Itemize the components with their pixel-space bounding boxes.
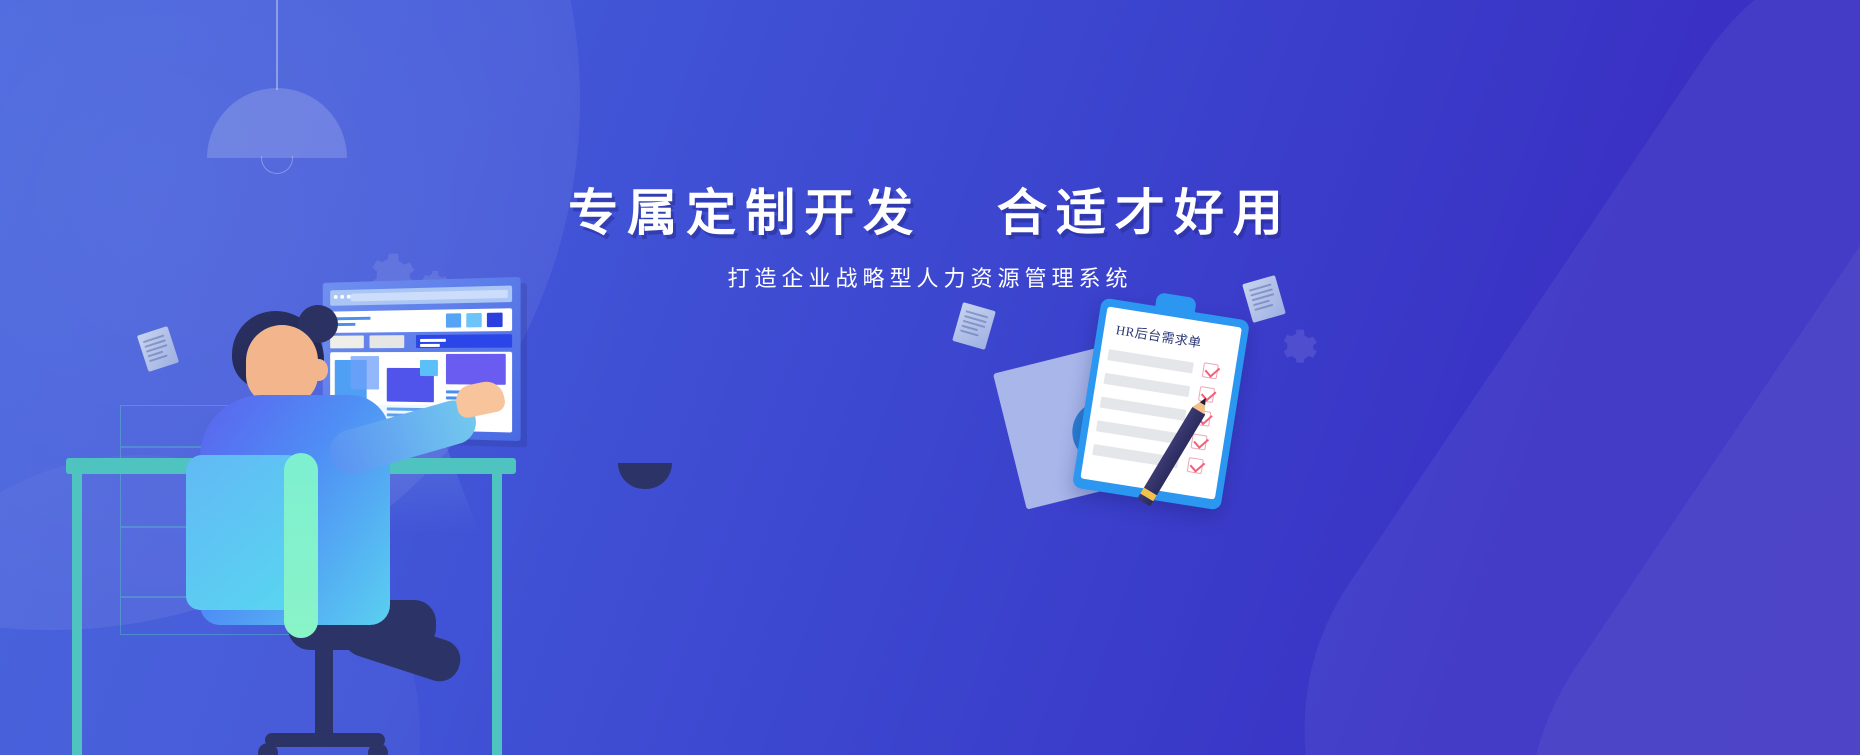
window-dots-icon [334, 295, 351, 299]
chair-backrest-edge [284, 453, 318, 638]
clipboard-title: HR后台需求单 [1115, 319, 1233, 356]
illustration-man-at-desk [60, 255, 600, 755]
desk-leg [492, 472, 502, 755]
screen-header-row [330, 308, 512, 333]
clipboard: HR后台需求单 [1072, 297, 1250, 510]
chair-wheel [368, 743, 388, 755]
person-head [246, 325, 318, 405]
headline-part-1: 专属定制开发 [568, 184, 922, 242]
monitor-stand [618, 463, 672, 489]
chair-post [315, 645, 333, 740]
pendant-lamp-icon [207, 0, 347, 168]
checkbox-checked-icon [1190, 433, 1207, 450]
hero-banner: HR后台需求单 专属定制开发 合适才好用 打造 [0, 0, 1860, 755]
banner-copy: 专属定制开发 合适才好用 打造企业战略型人力资源管理系统 [0, 185, 1860, 293]
chair-base [265, 733, 385, 747]
headline-part-2: 合适才好用 [997, 184, 1292, 242]
illustration-hr-clipboard: HR后台需求单 [1000, 280, 1320, 580]
page-subtitle: 打造企业战略型人力资源管理系统 [0, 261, 1860, 293]
person-ear [310, 359, 328, 381]
lamp-cord [276, 0, 278, 90]
desk-leg [72, 472, 82, 755]
paper-note-icon [952, 302, 996, 350]
checkbox-checked-icon [1187, 457, 1204, 474]
lamp-shade [207, 88, 347, 158]
page-title: 专属定制开发 合适才好用 [0, 185, 1860, 243]
screen-chip-row [330, 334, 512, 348]
checkbox-checked-icon [1202, 362, 1219, 379]
